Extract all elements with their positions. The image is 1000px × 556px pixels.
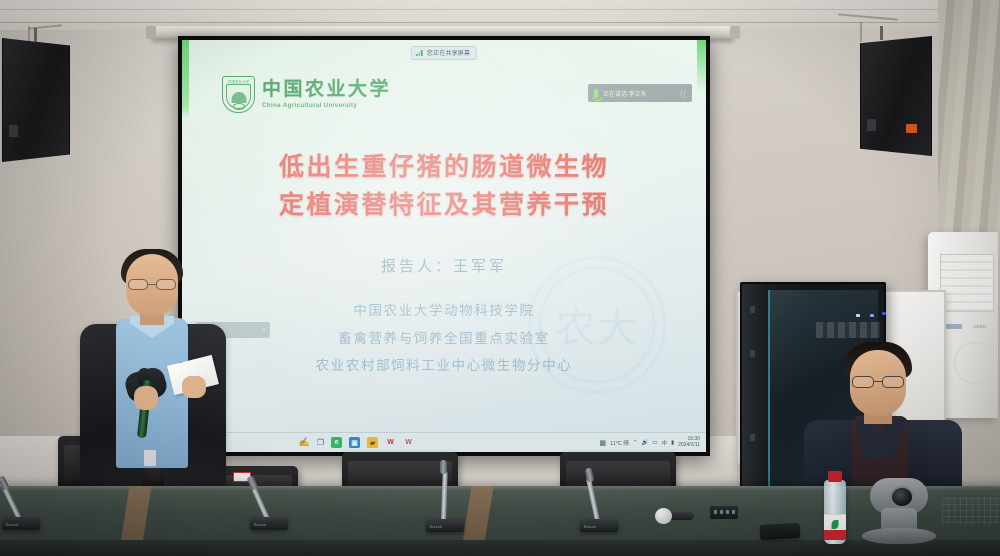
- wps-second-icon[interactable]: W: [403, 437, 414, 448]
- microphone-head: [0, 475, 10, 491]
- remote-control[interactable]: [710, 506, 738, 519]
- photos-icon[interactable]: ▣: [349, 437, 360, 448]
- rack-vent-hole: [750, 434, 755, 441]
- projection-screen-frame: 您正在共享屏幕 正在讲话 李文东 (( 中国农业大学 中国农业大学 China: [178, 36, 710, 456]
- wall-speaker-left: [2, 38, 70, 162]
- gooseneck-microphone[interactable]: Bosch: [2, 470, 42, 530]
- microphone-brand: Bosch: [430, 524, 443, 529]
- wps-writer-icon[interactable]: W: [385, 437, 396, 448]
- speaker-port: [867, 119, 876, 131]
- speaker-port: [9, 125, 18, 137]
- screen-housing-end-left: [146, 26, 156, 39]
- microphone-base[interactable]: Bosch: [250, 517, 288, 530]
- microphone-base[interactable]: Bosch: [580, 519, 618, 532]
- bottle-cap: [828, 471, 842, 482]
- keyboard[interactable]: [942, 498, 1000, 524]
- university-crest-icon: 中国农业大学: [222, 76, 255, 113]
- university-name-block: 中国农业大学 China Agricultural University: [262, 80, 391, 109]
- rack-status-led: [856, 314, 860, 317]
- microphone-brand: Bosch: [254, 522, 267, 527]
- bottle-label-band: [824, 530, 846, 540]
- wall-speaker-right: [860, 36, 932, 156]
- microphone-stem: [2, 487, 21, 520]
- window-curtain: [938, 0, 1000, 258]
- ceiling-seam-secondary: [0, 9, 1000, 10]
- handheld-mic-head: [655, 508, 672, 524]
- ceiling-cable: [860, 22, 862, 42]
- slide-title-line1: 低出生重仔猪的肠道微生物: [182, 148, 706, 186]
- conference-room-scene: GREE 您正在共享屏幕: [0, 0, 1000, 556]
- table-front-panel: [0, 540, 1000, 556]
- network-icon[interactable]: ▭: [652, 440, 657, 446]
- university-logo: 中国农业大学 中国农业大学 China Agricultural Univers…: [222, 76, 391, 113]
- rack-vent-hole: [750, 350, 755, 357]
- rack-mounted-equipment: [816, 322, 880, 338]
- crest-motto: 中国农业大学: [228, 79, 250, 84]
- microphone-brand: Bosch: [584, 524, 597, 529]
- microphone-stem: [251, 487, 269, 520]
- crest-arch: [231, 92, 246, 103]
- signal-bars-icon: [416, 50, 423, 56]
- weather-label[interactable]: 11°C 晴: [610, 439, 629, 447]
- ceiling-seam: [0, 22, 1000, 23]
- ptz-conference-camera: [862, 478, 936, 544]
- camera-base-plate: [862, 528, 936, 544]
- camera-lens: [890, 486, 914, 508]
- bottle-leaf-logo-icon: [832, 520, 839, 529]
- smartphone[interactable]: [760, 523, 801, 540]
- close-icon[interactable]: ×: [262, 327, 266, 334]
- rack-status-led: [882, 312, 886, 315]
- slide-title: 低出生重仔猪的肠道微生物 定植演替特征及其营养干预: [182, 148, 706, 224]
- slide-presenter: 报告人：王军军: [182, 255, 706, 276]
- taskbar-date: 2024/1/11: [678, 443, 700, 449]
- presenter-hand-right: [182, 376, 206, 398]
- taskbar-clock[interactable]: 16:30 2024/1/11: [678, 437, 700, 449]
- microphone-head: [440, 460, 447, 474]
- gooseneck-microphone[interactable]: Bosch: [426, 472, 466, 532]
- screen-share-toast: 您正在共享屏幕: [411, 46, 477, 60]
- screen-housing-end-right: [730, 26, 740, 39]
- projection-screen[interactable]: 您正在共享屏幕 正在讲话 李文东 (( 中国农业大学 中国农业大学 China: [182, 40, 706, 452]
- edge-icon[interactable]: e: [331, 437, 342, 448]
- slide-accent-left: [182, 40, 189, 118]
- university-name-en: China Agricultural University: [262, 102, 391, 109]
- slide-affiliations: 中国农业大学动物科技学院 畜禽营养与饲养全国重点实验室 农业农村部饲料工业中心微…: [182, 298, 706, 381]
- microphone-base[interactable]: Bosch: [2, 517, 40, 530]
- speaking-indicator: 正在讲话 李文东 ((: [588, 84, 692, 102]
- rack-vent-hole: [750, 306, 755, 313]
- rack-status-led: [870, 314, 874, 317]
- file-explorer-icon[interactable]: ▰: [367, 437, 378, 448]
- microphone-stem: [586, 477, 600, 521]
- presenter-hand-left: [134, 386, 158, 410]
- taskbar-app-icons[interactable]: ✍ ❐ e ▣ ▰ W W: [299, 437, 414, 448]
- battery-icon[interactable]: ▮: [671, 440, 674, 446]
- ime-icon[interactable]: 中: [662, 439, 668, 447]
- speaker-bracket: [880, 26, 883, 40]
- slide-affiliation-3: 农业农村部饲料工业中心微生物分中心: [182, 353, 706, 381]
- windows-taskbar[interactable]: ⌕ 搜索 ✍ ❐ e ▣ ▰ W W ▦ 11°C 晴 ⌃ 🔊 ▭: [182, 432, 706, 452]
- gooseneck-microphone[interactable]: Bosch: [580, 468, 620, 532]
- presenter-lanyard-card: [144, 450, 156, 466]
- water-bottle: [824, 480, 846, 544]
- sound-icon[interactable]: 🔊: [641, 440, 648, 446]
- speaking-indicator-label: 正在讲话 李文东: [603, 89, 647, 98]
- screen-share-toast-label: 您正在共享屏幕: [427, 48, 470, 57]
- slide-title-line2: 定植演替特征及其营养干预: [182, 186, 706, 224]
- rack-side-panel: [742, 284, 768, 504]
- taskbar-system-tray[interactable]: ▦ 11°C 晴 ⌃ 🔊 ▭ 中 ▮ 16:30 2024/1/11: [599, 437, 700, 449]
- gooseneck-microphone[interactable]: Bosch: [250, 470, 290, 530]
- weather-icon[interactable]: ▦: [599, 439, 606, 447]
- task-view-icon[interactable]: ❐: [317, 438, 324, 447]
- glasses-icon: [852, 376, 904, 388]
- microphone-stem: [441, 471, 448, 521]
- ink-workspace-icon[interactable]: ✍: [299, 437, 310, 448]
- standing-presenter: [78, 254, 228, 514]
- jbl-logo-icon: [906, 124, 917, 133]
- bottle-label: [824, 514, 846, 540]
- glasses-icon: [128, 279, 176, 290]
- show-hidden-icons-icon[interactable]: ⌃: [633, 440, 638, 446]
- microphone-icon: [594, 89, 598, 98]
- ac-vent: [940, 254, 994, 312]
- microphone-base[interactable]: Bosch: [426, 519, 464, 532]
- speaker-bracket: [34, 28, 37, 42]
- microphone-brand: Bosch: [6, 522, 19, 527]
- ac-brand-logo: GREE: [973, 324, 986, 329]
- crest-ring: [233, 103, 245, 110]
- university-name-cn: 中国农业大学: [262, 80, 391, 100]
- sound-wave-icon: ((: [680, 89, 686, 98]
- slide-accent-right: [697, 40, 706, 92]
- handheld-microphone[interactable]: [655, 508, 693, 524]
